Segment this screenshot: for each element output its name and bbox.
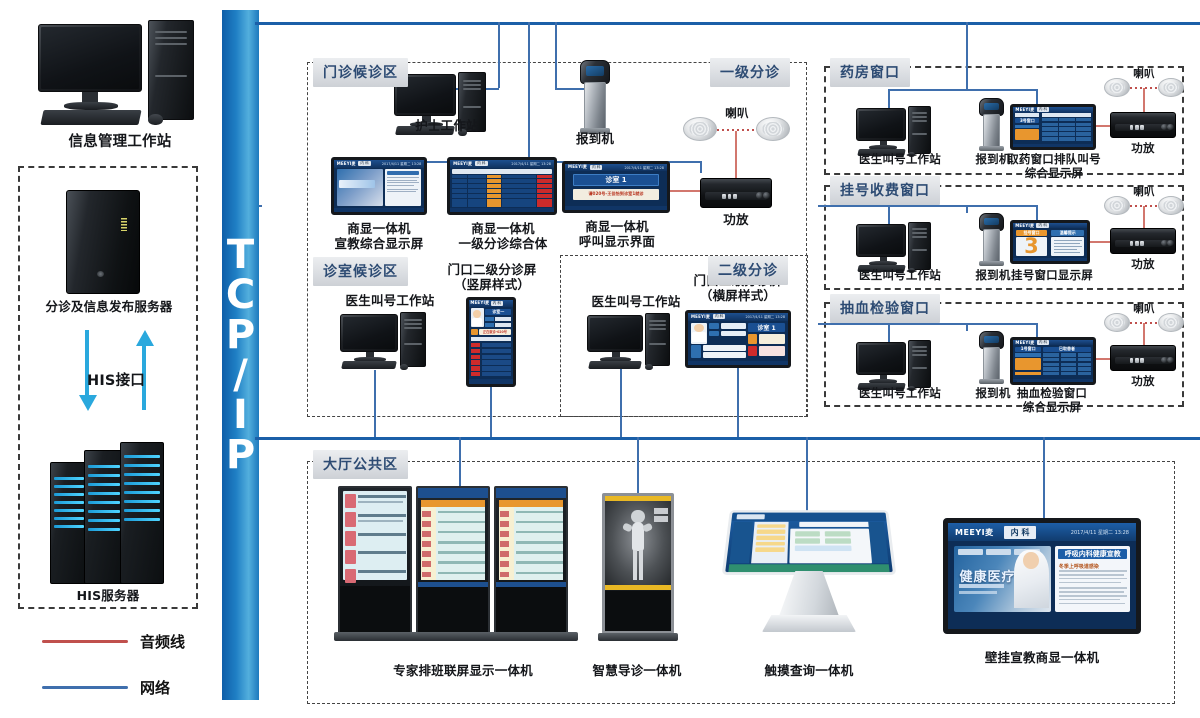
info-management-workstation-icon xyxy=(30,18,210,128)
wire-blood-bus xyxy=(888,323,1036,325)
tv-brand: MEEYI麦 xyxy=(955,527,994,538)
screen-clock-2: 2017/4/11 星期二 13:28 xyxy=(511,161,550,166)
screen-brand-v: MEEYI麦 xyxy=(470,300,489,306)
his-interface-up-arrow xyxy=(136,330,154,346)
screen-tab-2: 内 科 xyxy=(475,161,487,166)
expert-schedule-signage-label: 专家排班联屏显示一体机 xyxy=(338,663,588,678)
blood-doctor-workstation-icon xyxy=(856,340,944,392)
screen-tab-bt: 内 科 xyxy=(1037,340,1049,345)
zone-tag-triage-level2: 二级分诊 xyxy=(708,256,788,285)
call-room-text: 诊室 1 xyxy=(605,175,626,185)
wire-l2-screen-down xyxy=(737,368,739,437)
tv-tab: 内 科 xyxy=(1004,526,1037,539)
l2-room-text: 诊室 1 xyxy=(757,323,775,332)
registration-amplifier-icon xyxy=(1110,228,1176,254)
network-trunk-top xyxy=(255,22,1200,25)
smart-guide-signage-label: 智慧导诊一体机 xyxy=(572,663,702,678)
zone-tag-blood-test: 抽血检验窗口 xyxy=(830,294,940,323)
wire-clinic-pc-down xyxy=(374,370,376,437)
vertical-triage-screen: MEEYI麦 内 科 诊室一 正在就诊-020号 xyxy=(466,297,516,387)
ceiling-speaker-l1-left-icon xyxy=(683,117,717,141)
education-display-label: 商显一体机 宣教综合显示屏 xyxy=(318,221,440,252)
vertical-triage-screen-label: 门口二级分诊屏 （竖屏样式） xyxy=(437,262,547,293)
screen-tab-1: 内 科 xyxy=(358,161,370,166)
screen-brand-h: MEEYI麦 xyxy=(691,314,710,320)
screen-brand-bt: MEEYI麦 xyxy=(1015,340,1034,346)
wire-registration-screen xyxy=(1036,205,1038,220)
screen-clock-3: 2017/4/11 星期二 13:28 xyxy=(624,165,663,170)
pharmacy-amplifier-label: 功放 xyxy=(1113,141,1173,155)
blood-doctor-workstation-label: 医生叫号工作站 xyxy=(840,386,960,400)
blood-window-no: 1号窗口 xyxy=(1021,346,1036,352)
tv-date: 2017/4/11 星期二 13:28 xyxy=(1071,529,1129,536)
his-server-label: HIS服务器 xyxy=(38,588,178,603)
call-display-screen: MEEYI麦 内 科 2017/4/11 星期二 13:28 诊室 1 请020… xyxy=(562,161,670,213)
wire-lobby-signage xyxy=(459,437,461,487)
screen-tab-ph: 内 科 xyxy=(1037,107,1049,112)
screen-brand-ph: MEEYI麦 xyxy=(1015,107,1034,113)
registration-doctor-workstation-label: 医生叫号工作站 xyxy=(840,268,960,282)
blood-speaker-left-icon xyxy=(1104,313,1130,332)
info-management-workstation-label: 信息管理工作站 xyxy=(20,134,220,152)
call-message-text: 请020号-王佳怡到诊室1就诊 xyxy=(588,191,643,197)
dispatch-server-icon xyxy=(66,190,140,294)
wire-drop-kiosk xyxy=(555,22,557,88)
audio-wire-l1-to-screen xyxy=(670,190,700,192)
wall-mounted-education-tv-icon: MEEYI麦 内 科 2017/4/11 星期二 13:28 健康医疗 呼吸内科… xyxy=(943,518,1141,634)
vertical-calling-text: 正在就诊-020号 xyxy=(483,329,507,334)
speaker-l1-label: 喇叭 xyxy=(707,106,767,120)
pharmacy-amplifier-icon xyxy=(1110,112,1176,138)
amplifier-l1-label: 功放 xyxy=(704,212,768,227)
expert-schedule-signage-icon xyxy=(338,486,586,641)
wire-registration-bus xyxy=(888,205,1036,207)
pharmacy-speaker-label: 喇叭 xyxy=(1116,68,1172,81)
registration-doctor-workstation-icon xyxy=(856,222,944,274)
pharmacy-kiosk-icon xyxy=(978,98,1006,152)
screen-tab-rg: 内 科 xyxy=(1036,223,1048,228)
smart-guide-signage-icon xyxy=(602,493,674,641)
doctor-call-workstation-2-icon xyxy=(585,313,685,371)
wire-drop-center xyxy=(528,22,530,162)
call-display-label: 商显一体机 呼叫显示界面 xyxy=(556,219,678,250)
wire-lobby-guide xyxy=(637,437,639,493)
pharmacy-speaker-right-icon xyxy=(1158,78,1184,97)
registration-kiosk-icon xyxy=(978,213,1006,267)
pharmacy-doctor-workstation-label: 医生叫号工作站 xyxy=(840,152,960,166)
touch-inquiry-kiosk-label: 触摸查询一体机 xyxy=(744,663,874,678)
screen-tab-v: 内 科 xyxy=(491,301,503,306)
tcpip-char-t: T xyxy=(227,235,254,275)
amplifier-l1-icon xyxy=(700,178,772,208)
tcpip-char-p2: P xyxy=(226,435,255,475)
topology-diagram: 信息管理工作站 分诊及信息发布服务器 HIS接口 HIS服务器 音频线 网络 xyxy=(0,0,1200,718)
pharmacy-audio-to-screen xyxy=(1096,125,1110,127)
screen-tab-3: 内 科 xyxy=(590,165,602,170)
tv-banner-text: 健康医疗 xyxy=(959,566,1015,585)
zone-tag-triage-level1: 一级分诊 xyxy=(710,58,790,87)
blood-speaker-right-icon xyxy=(1158,313,1184,332)
wire-vertical-screen-down xyxy=(490,387,492,437)
blood-test-display-label: 抽血检验窗口 综合显示屏 xyxy=(1000,386,1104,414)
touch-inquiry-kiosk-icon xyxy=(726,505,892,635)
wire-registration-left-tie xyxy=(818,205,888,207)
pharmacy-doctor-workstation-icon xyxy=(856,106,944,158)
wire-lobby-tv xyxy=(1043,437,1045,518)
wire-blood-left-tie xyxy=(818,323,888,325)
tv-education-title: 呼吸内科健康宣教 xyxy=(1065,549,1121,559)
blood-amplifier-icon xyxy=(1110,345,1176,371)
nurse-workstation-label: 护士工作站 xyxy=(382,118,512,133)
triage-queue-display-label: 商显一体机 一级分诊综合体 xyxy=(440,221,566,252)
blood-audio-vertical xyxy=(1143,323,1145,347)
wire-registration-kiosk xyxy=(966,205,968,213)
ceiling-speaker-l1-right-icon xyxy=(756,117,790,141)
screen-brand-2: MEEYI麦 xyxy=(453,161,472,167)
tcpip-char-slash: / xyxy=(233,355,248,395)
dispatch-server-label: 分诊及信息发布服务器 xyxy=(14,299,204,314)
vertical-room-text: 诊室一 xyxy=(492,309,504,315)
pharmacy-audio-vertical xyxy=(1143,88,1145,114)
screen-brand-1: MEEYI麦 xyxy=(337,161,356,167)
pharmacy-queue-display-screen: MEEYI麦 内 科 3号窗口 xyxy=(1010,104,1096,150)
wire-blood-screen xyxy=(1036,323,1038,337)
triage-queue-display-screen: MEEYI麦 内 科 2017/4/11 星期二 13:28 xyxy=(447,157,557,215)
doctor-call-workstation-1-label: 医生叫号工作站 xyxy=(320,293,460,308)
blood-amplifier-label: 功放 xyxy=(1113,374,1173,388)
screen-brand-3: MEEYI麦 xyxy=(568,164,587,170)
blood-audio-to-screen xyxy=(1096,358,1110,360)
zone-tag-outpatient-waiting: 门诊候诊区 xyxy=(313,58,408,87)
zone-tag-registration: 挂号收费窗口 xyxy=(830,176,940,205)
wire-pharmacy-bus xyxy=(888,89,1036,91)
tcpip-char-c: C xyxy=(226,275,255,315)
screen-brand-rg: MEEYI麦 xyxy=(1015,223,1034,229)
legend-audio-line xyxy=(42,640,128,643)
legend-network-line xyxy=(42,686,128,689)
legend-audio-label: 音频线 xyxy=(140,631,185,652)
legend-network-label: 网络 xyxy=(140,677,170,698)
registration-audio-vertical xyxy=(1143,206,1145,230)
his-interface-down-arrow xyxy=(79,395,97,411)
checkin-kiosk-outpatient-icon xyxy=(578,60,612,136)
wire-blood-kiosk xyxy=(966,323,968,331)
doctor-call-workstation-1-icon xyxy=(338,312,438,372)
zone-tag-clinic-waiting: 诊室候诊区 xyxy=(313,257,408,286)
education-display-screen: MEEYI麦 内 科 2017/4/11 星期二 13:28 xyxy=(331,157,427,215)
blood-waiting-text: 已取患者 xyxy=(1059,346,1075,352)
pharmacy-queue-display-label: 取药窗口排队叫号 综合显示屏 xyxy=(1002,152,1106,180)
zone-tag-lobby: 大厅公共区 xyxy=(313,450,408,479)
blood-speaker-label: 喇叭 xyxy=(1116,303,1172,316)
registration-notice-text: 温馨提示 xyxy=(1060,230,1076,236)
registration-window-display-label: 挂号窗口显示屏 xyxy=(1000,268,1104,282)
his-interface-label: HIS接口 xyxy=(78,373,154,391)
checkin-kiosk-outpatient-label: 报到机 xyxy=(555,131,635,146)
blood-test-display-screen: MEEYI麦 内 科 1号窗口 已取患者 xyxy=(1010,337,1096,385)
pharmacy-speaker-left-icon xyxy=(1104,78,1130,97)
registration-speaker-right-icon xyxy=(1158,196,1184,215)
registration-window-display-screen: MEEYI麦 内 科 挂号窗口 温馨提示 3 xyxy=(1010,220,1090,264)
screen-clock-h: 2017/4/11 星期二 13:28 xyxy=(746,314,785,319)
zone-tag-pharmacy: 药房窗口 xyxy=(830,58,910,87)
horizontal-triage-screen: MEEYI麦 内 科 2017/4/11 星期二 13:28 诊室 1 xyxy=(685,310,791,368)
wire-lobby-touch xyxy=(806,437,808,512)
wire-pharmacy-screen xyxy=(1036,89,1038,104)
his-server-icon xyxy=(40,440,176,590)
wire-registration-feed xyxy=(259,205,262,207)
registration-number-text: 3 xyxy=(1024,236,1039,257)
tcpip-char-i: I xyxy=(233,395,248,435)
wire-pharmacy-feed xyxy=(966,22,968,89)
wire-l2-pc-down xyxy=(620,369,622,437)
tcp-ip-backbone-bar: T C P / I P xyxy=(222,10,259,700)
audio-wire-l1-vertical xyxy=(735,131,737,180)
wire-screen3-drop xyxy=(700,161,702,173)
screen-tab-h: 内 科 xyxy=(713,314,725,319)
registration-audio-to-screen xyxy=(1090,241,1110,243)
tcpip-char-p: P xyxy=(226,315,255,355)
screen-clock-1: 2017/4/11 星期二 13:28 xyxy=(382,161,421,166)
network-trunk-bottom xyxy=(255,437,1200,440)
registration-amplifier-label: 功放 xyxy=(1113,257,1173,271)
tv-education-subtitle: 冬季上呼吸道感染 xyxy=(1059,563,1099,570)
registration-speaker-label: 喇叭 xyxy=(1116,186,1172,199)
wall-mounted-education-tv-label: 壁挂宣教商显一体机 xyxy=(967,650,1117,665)
pharmacy-window-no: 3号窗口 xyxy=(1020,118,1035,124)
registration-speaker-left-icon xyxy=(1104,196,1130,215)
blood-kiosk-icon xyxy=(978,331,1006,385)
